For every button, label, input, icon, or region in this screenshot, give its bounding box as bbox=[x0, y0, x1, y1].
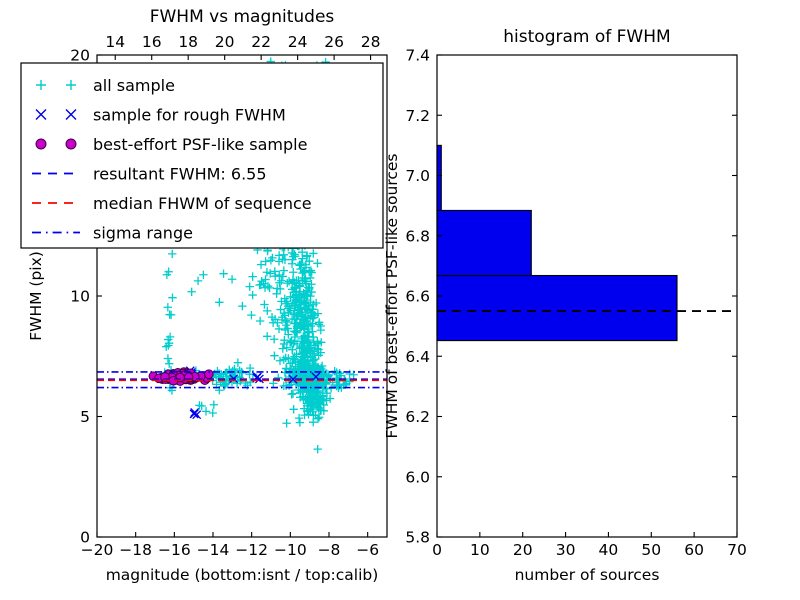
scatter-ylabel: FWHM (pix) bbox=[27, 251, 45, 341]
legend-item-label: resultant FWHM: 6.55 bbox=[93, 165, 267, 184]
histogram-bar bbox=[437, 145, 441, 210]
histogram-xtick-label: 50 bbox=[641, 541, 661, 559]
scatter-top-xtick-label: 20 bbox=[215, 33, 235, 51]
histogram-ytick-label: 7.4 bbox=[405, 47, 430, 65]
scatter-xtick-label: −6 bbox=[356, 541, 379, 559]
histogram-ytick-label: 6.4 bbox=[405, 348, 430, 366]
histogram-xtick-label: 10 bbox=[470, 541, 490, 559]
histogram-ytick-label: 6.6 bbox=[405, 288, 430, 306]
scatter-xtick-label: −14 bbox=[197, 541, 230, 559]
histogram-ytick-label: 5.8 bbox=[405, 529, 430, 547]
scatter-ytick-label: 20 bbox=[70, 47, 90, 65]
histogram-ytick-label: 6.0 bbox=[405, 468, 430, 486]
legend[interactable]: all samplesample for rough FWHMbest-effo… bbox=[21, 63, 383, 248]
histogram-xtick-label: 70 bbox=[727, 541, 747, 559]
histogram-xtick-label: 20 bbox=[513, 541, 533, 559]
legend-item-label: best-effort PSF-like sample bbox=[93, 135, 307, 154]
legend-item-label: median FHWM of sequence bbox=[93, 194, 312, 213]
scatter-top-xtick-label: 22 bbox=[251, 33, 271, 51]
legend-item-label: sample for rough FWHM bbox=[93, 106, 286, 125]
histogram-bar bbox=[437, 276, 677, 341]
legend-marker-circle-icon bbox=[66, 139, 76, 149]
scatter-top-xtick-label: 28 bbox=[361, 33, 381, 51]
histogram-xtick-label: 40 bbox=[599, 541, 619, 559]
scatter-ytick-label: 5 bbox=[80, 408, 90, 426]
histogram-bar bbox=[437, 210, 531, 275]
legend-item-label: all sample bbox=[93, 76, 175, 95]
histogram-ylabel: FWHM of best-effort PSF-like sources bbox=[383, 153, 401, 438]
scatter-xtick-label: −8 bbox=[318, 541, 341, 559]
legend-marker-circle-icon bbox=[36, 139, 46, 149]
scatter-xtick-label: −12 bbox=[235, 541, 268, 559]
scatter-top-xtick-label: 14 bbox=[105, 33, 125, 51]
scatter-ytick-label: 0 bbox=[80, 529, 90, 547]
figure-svg: FWHM vs magnitudes−20−18−16−14−12−10−8−6… bbox=[0, 0, 800, 600]
histogram-xtick-label: 30 bbox=[556, 541, 576, 559]
scatter-xtick-label: −10 bbox=[274, 541, 307, 559]
figure-canvas: FWHM vs magnitudes−20−18−16−14−12−10−8−6… bbox=[0, 0, 800, 600]
histogram-ytick-label: 6.8 bbox=[405, 227, 430, 245]
scatter-xtick-label: −16 bbox=[158, 541, 191, 559]
histogram-title: histogram of FWHM bbox=[503, 27, 670, 47]
scatter-top-xtick-label: 24 bbox=[288, 33, 308, 51]
histogram-ytick-label: 7.2 bbox=[405, 107, 430, 125]
scatter-top-xtick-label: 18 bbox=[178, 33, 198, 51]
legend-frame[interactable] bbox=[21, 63, 383, 248]
scatter-ytick-label: 10 bbox=[70, 288, 90, 306]
scatter-title: FWHM vs magnitudes bbox=[150, 7, 335, 27]
scatter-xtick-label: −18 bbox=[119, 541, 152, 559]
scatter-xlabel: magnitude (bottom:isnt / top:calib) bbox=[106, 566, 379, 584]
histogram-ytick-label: 6.2 bbox=[405, 408, 430, 426]
scatter-top-xtick-label: 16 bbox=[142, 33, 162, 51]
histogram-xtick-label: 60 bbox=[684, 541, 704, 559]
legend-item-label: sigma range bbox=[93, 224, 193, 243]
scatter-top-xtick-label: 26 bbox=[324, 33, 344, 51]
histogram-xtick-label: 0 bbox=[432, 541, 442, 559]
histogram-ytick-label: 7.0 bbox=[405, 167, 430, 185]
histogram-xlabel: number of sources bbox=[515, 566, 660, 584]
